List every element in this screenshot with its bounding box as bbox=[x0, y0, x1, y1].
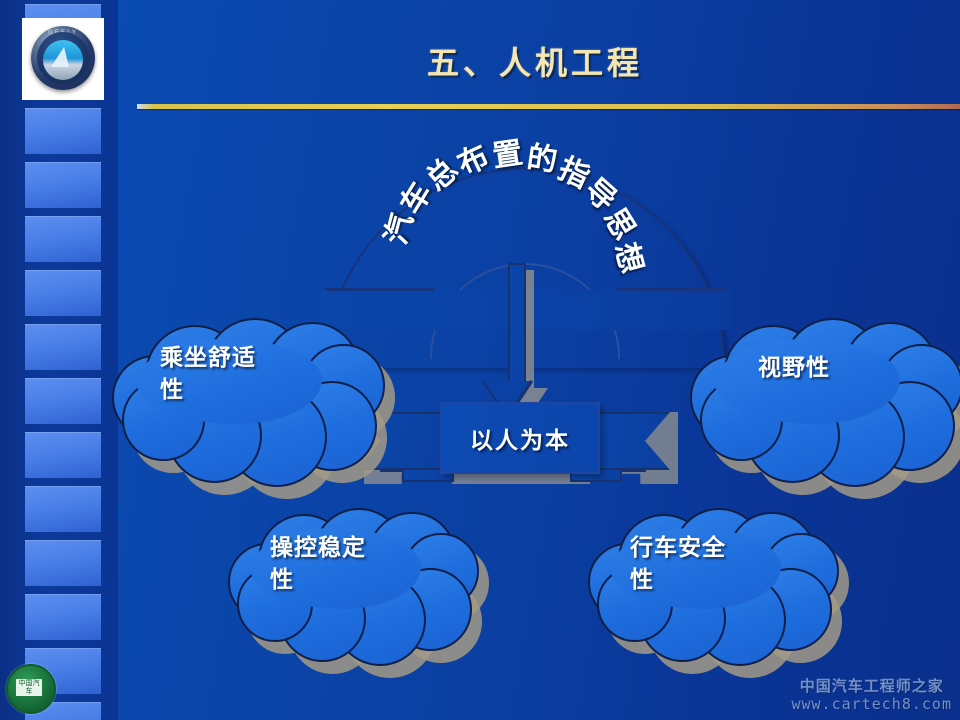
sidebar-block bbox=[25, 432, 101, 478]
logo-ring bbox=[37, 32, 89, 84]
logo-core-icon bbox=[43, 40, 83, 80]
title-divider bbox=[137, 104, 960, 109]
seal-inner-text: 中国汽车 bbox=[16, 679, 42, 696]
cloud-label-handling-stability: 操控稳定 性 bbox=[270, 532, 366, 596]
sidebar-block bbox=[25, 378, 101, 424]
organization-seal-icon: 中国汽车 bbox=[6, 664, 56, 714]
sidebar-decoration bbox=[0, 0, 118, 720]
geely-logo: GEELY bbox=[22, 18, 104, 100]
sidebar-block bbox=[25, 162, 101, 208]
center-concept-box: 以人为本 bbox=[440, 402, 600, 474]
arch-heading-char: 的 bbox=[524, 132, 560, 180]
presentation-slide: GEELY 中国汽车 五、人机工程 汽车总布置的指导思想 以人 bbox=[0, 0, 960, 720]
cloud-shape-ride-comfort: 乘坐舒适 性 bbox=[112, 318, 362, 450]
arch-base-left bbox=[325, 288, 433, 291]
watermark-url: www.cartech8.com bbox=[792, 695, 953, 714]
logo-emblem-icon: GEELY bbox=[31, 26, 95, 90]
watermark: 中国汽车工程师之家 www.cartech8.com bbox=[792, 677, 953, 715]
down-arrow-stem bbox=[508, 263, 526, 383]
sidebar-block bbox=[25, 594, 101, 640]
sidebar-block bbox=[25, 486, 101, 532]
arch-heading-char: 置 bbox=[489, 127, 525, 175]
cloud-label-visibility: 视野性 bbox=[758, 352, 830, 384]
page-title: 五、人机工程 bbox=[130, 38, 940, 84]
cloud-shape-handling-stability: 操控稳定 性 bbox=[228, 508, 458, 634]
center-concept-label: 以人为本 bbox=[470, 421, 570, 455]
sidebar-block bbox=[25, 216, 101, 262]
sidebar-block bbox=[25, 540, 101, 586]
arch-base-right bbox=[617, 288, 725, 291]
cloud-shape-driving-safety: 行车安全 性 bbox=[588, 508, 818, 634]
sidebar-block bbox=[25, 108, 101, 154]
cloud-label-driving-safety: 行车安全 性 bbox=[630, 532, 726, 596]
cloud-label-ride-comfort: 乘坐舒适 性 bbox=[160, 342, 256, 406]
cloud-shape-visibility: 视野性 bbox=[690, 318, 940, 450]
sidebar-block bbox=[25, 270, 101, 316]
sidebar-block bbox=[25, 324, 101, 370]
watermark-chinese: 中国汽车工程师之家 bbox=[792, 677, 953, 696]
